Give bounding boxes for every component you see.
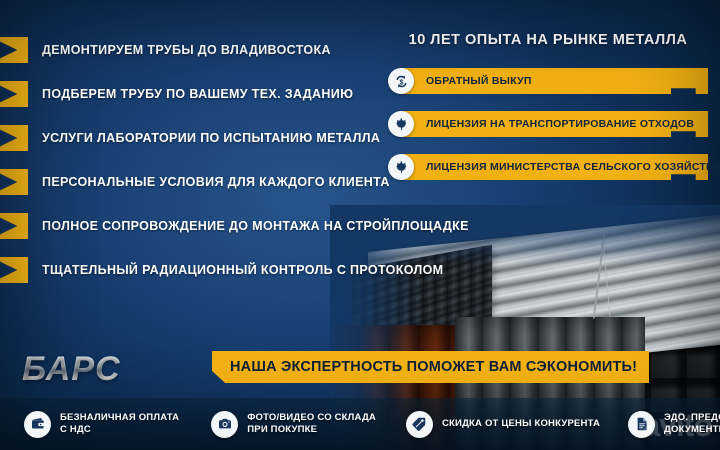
camera-icon [211, 411, 238, 438]
feature-label: ПОДБЕРЕМ ТРУБУ ПО ВАШЕМУ ТЕХ. ЗАДАНИЮ [42, 87, 353, 101]
ribbon-bullet-icon [0, 213, 28, 239]
svg-text:$: $ [399, 78, 403, 86]
ribbon-bullet-icon [0, 125, 28, 151]
eagle-emblem-icon [388, 111, 414, 137]
perk-label-line1: СКИДКА ОТ ЦЕНЫ КОНКУРЕНТА [442, 418, 600, 430]
badge-label: ЛИЦЕНЗИЯ НА ТРАНСПОРТИРОВАНИЕ ОТХОДОВ [426, 118, 694, 130]
perk-label-line2: ДОКУМЕНТЫ В ДЕНЬ СДЕЛКИ [664, 424, 720, 436]
eagle-emblem-icon [388, 154, 414, 180]
wallet-icon [24, 411, 51, 438]
headline: 10 ЛЕТ ОПЫТА НА РЫНКЕ МЕТАЛЛА [388, 32, 708, 48]
perk-label-line1: ФОТО/ВИДЕО СО СКЛАДА [247, 412, 376, 424]
perk-label: СКИДКА ОТ ЦЕНЫ КОНКУРЕНТА [442, 418, 600, 430]
feature-label: ПОЛНОЕ СОПРОВОЖДЕНИЕ ДО МОНТАЖА НА СТРОЙ… [42, 219, 469, 233]
perks-strip: БЕЗНАЛИЧНАЯ ОПЛАТА С НДС ФОТО/ВИДЕО СО С… [0, 398, 720, 450]
perk-label: БЕЗНАЛИЧНАЯ ОПЛАТА С НДС [60, 412, 179, 436]
badge-label: ЛИЦЕНЗИЯ МИНИСТЕРСТВА СЕЛЬСКОГО ХОЗЯЙСТВ… [426, 161, 720, 173]
perk-cashless-payment: БЕЗНАЛИЧНАЯ ОПЛАТА С НДС [24, 411, 179, 438]
ribbon-bullet-icon [0, 81, 28, 107]
perk-edo-documents: ЭДО. ПРЕДОСТАВИМ ДОКУМЕНТЫ В ДЕНЬ СДЕЛКИ [628, 411, 720, 438]
right-column: 10 ЛЕТ ОПЫТА НА РЫНКЕ МЕТАЛЛА $ ОБРАТНЫЙ… [388, 32, 708, 197]
perk-label-line1: ЭДО. ПРЕДОСТАВИМ [664, 412, 720, 424]
ribbon-bullet-icon [0, 169, 28, 195]
perk-label-line2: С НДС [60, 424, 179, 436]
feature-label: ДЕМОНТИРУЕМ ТРУБЫ ДО ВЛАДИВОСТОКА [42, 43, 331, 57]
badge-waste-transport-license: ЛИЦЕНЗИЯ НА ТРАНСПОРТИРОВАНИЕ ОТХОДОВ [388, 111, 708, 137]
buyback-icon: $ [388, 68, 414, 94]
perk-label-line2: ПРИ ПОКУПКЕ [247, 424, 376, 436]
document-icon [628, 411, 655, 438]
price-tag-icon [406, 411, 433, 438]
perk-label: ФОТО/ВИДЕО СО СКЛАДА ПРИ ПОКУПКЕ [247, 412, 376, 436]
feature-label: УСЛУГИ ЛАБОРАТОРИИ ПО ИСПЫТАНИЮ МЕТАЛЛА [42, 131, 380, 145]
company-logo: БАРС [22, 348, 190, 390]
feature-item: ТЩАТЕЛЬНЫЙ РАДИАЦИОННЫЙ КОНТРОЛЬ С ПРОТО… [0, 248, 400, 292]
feature-item: ДЕМОНТИРУЕМ ТРУБЫ ДО ВЛАДИВОСТОКА [0, 28, 400, 72]
badge-agriculture-ministry-license: ЛИЦЕНЗИЯ МИНИСТЕРСТВА СЕЛЬСКОГО ХОЗЯЙСТВ… [388, 154, 708, 180]
ribbon-bullet-icon [0, 257, 28, 283]
feature-label: ПЕРСОНАЛЬНЫЕ УСЛОВИЯ ДЛЯ КАЖДОГО КЛИЕНТА [42, 175, 390, 189]
logo-text: БАРС [22, 350, 121, 389]
perk-label: ЭДО. ПРЕДОСТАВИМ ДОКУМЕНТЫ В ДЕНЬ СДЕЛКИ [664, 412, 720, 436]
feature-list: ДЕМОНТИРУЕМ ТРУБЫ ДО ВЛАДИВОСТОКА ПОДБЕР… [0, 28, 400, 292]
badge-buyback: $ ОБРАТНЫЙ ВЫКУП [388, 68, 708, 94]
perk-label-line1: БЕЗНАЛИЧНАЯ ОПЛАТА [60, 412, 179, 424]
feature-item: УСЛУГИ ЛАБОРАТОРИИ ПО ИСПЫТАНИЮ МЕТАЛЛА [0, 116, 400, 160]
cta-banner: НАША ЭКСПЕРТНОСТЬ ПОМОЖЕТ ВАМ СЭКОНОМИТЬ… [212, 351, 649, 383]
perk-photo-video: ФОТО/ВИДЕО СО СКЛАДА ПРИ ПОКУПКЕ [211, 411, 376, 438]
advertising-banner: ДЕМОНТИРУЕМ ТРУБЫ ДО ВЛАДИВОСТОКА ПОДБЕР… [0, 0, 720, 450]
badge-label: ОБРАТНЫЙ ВЫКУП [426, 75, 532, 87]
feature-item: ПОДБЕРЕМ ТРУБУ ПО ВАШЕМУ ТЕХ. ЗАДАНИЮ [0, 72, 400, 116]
feature-label: ТЩАТЕЛЬНЫЙ РАДИАЦИОННЫЙ КОНТРОЛЬ С ПРОТО… [42, 263, 443, 277]
perk-competitor-discount: СКИДКА ОТ ЦЕНЫ КОНКУРЕНТА [406, 411, 600, 438]
feature-item: ПОЛНОЕ СОПРОВОЖДЕНИЕ ДО МОНТАЖА НА СТРОЙ… [0, 204, 400, 248]
cta-text: НАША ЭКСПЕРТНОСТЬ ПОМОЖЕТ ВАМ СЭКОНОМИТЬ… [230, 359, 637, 375]
ribbon-bullet-icon [0, 37, 28, 63]
feature-item: ПЕРСОНАЛЬНЫЕ УСЛОВИЯ ДЛЯ КАЖДОГО КЛИЕНТА [0, 160, 400, 204]
